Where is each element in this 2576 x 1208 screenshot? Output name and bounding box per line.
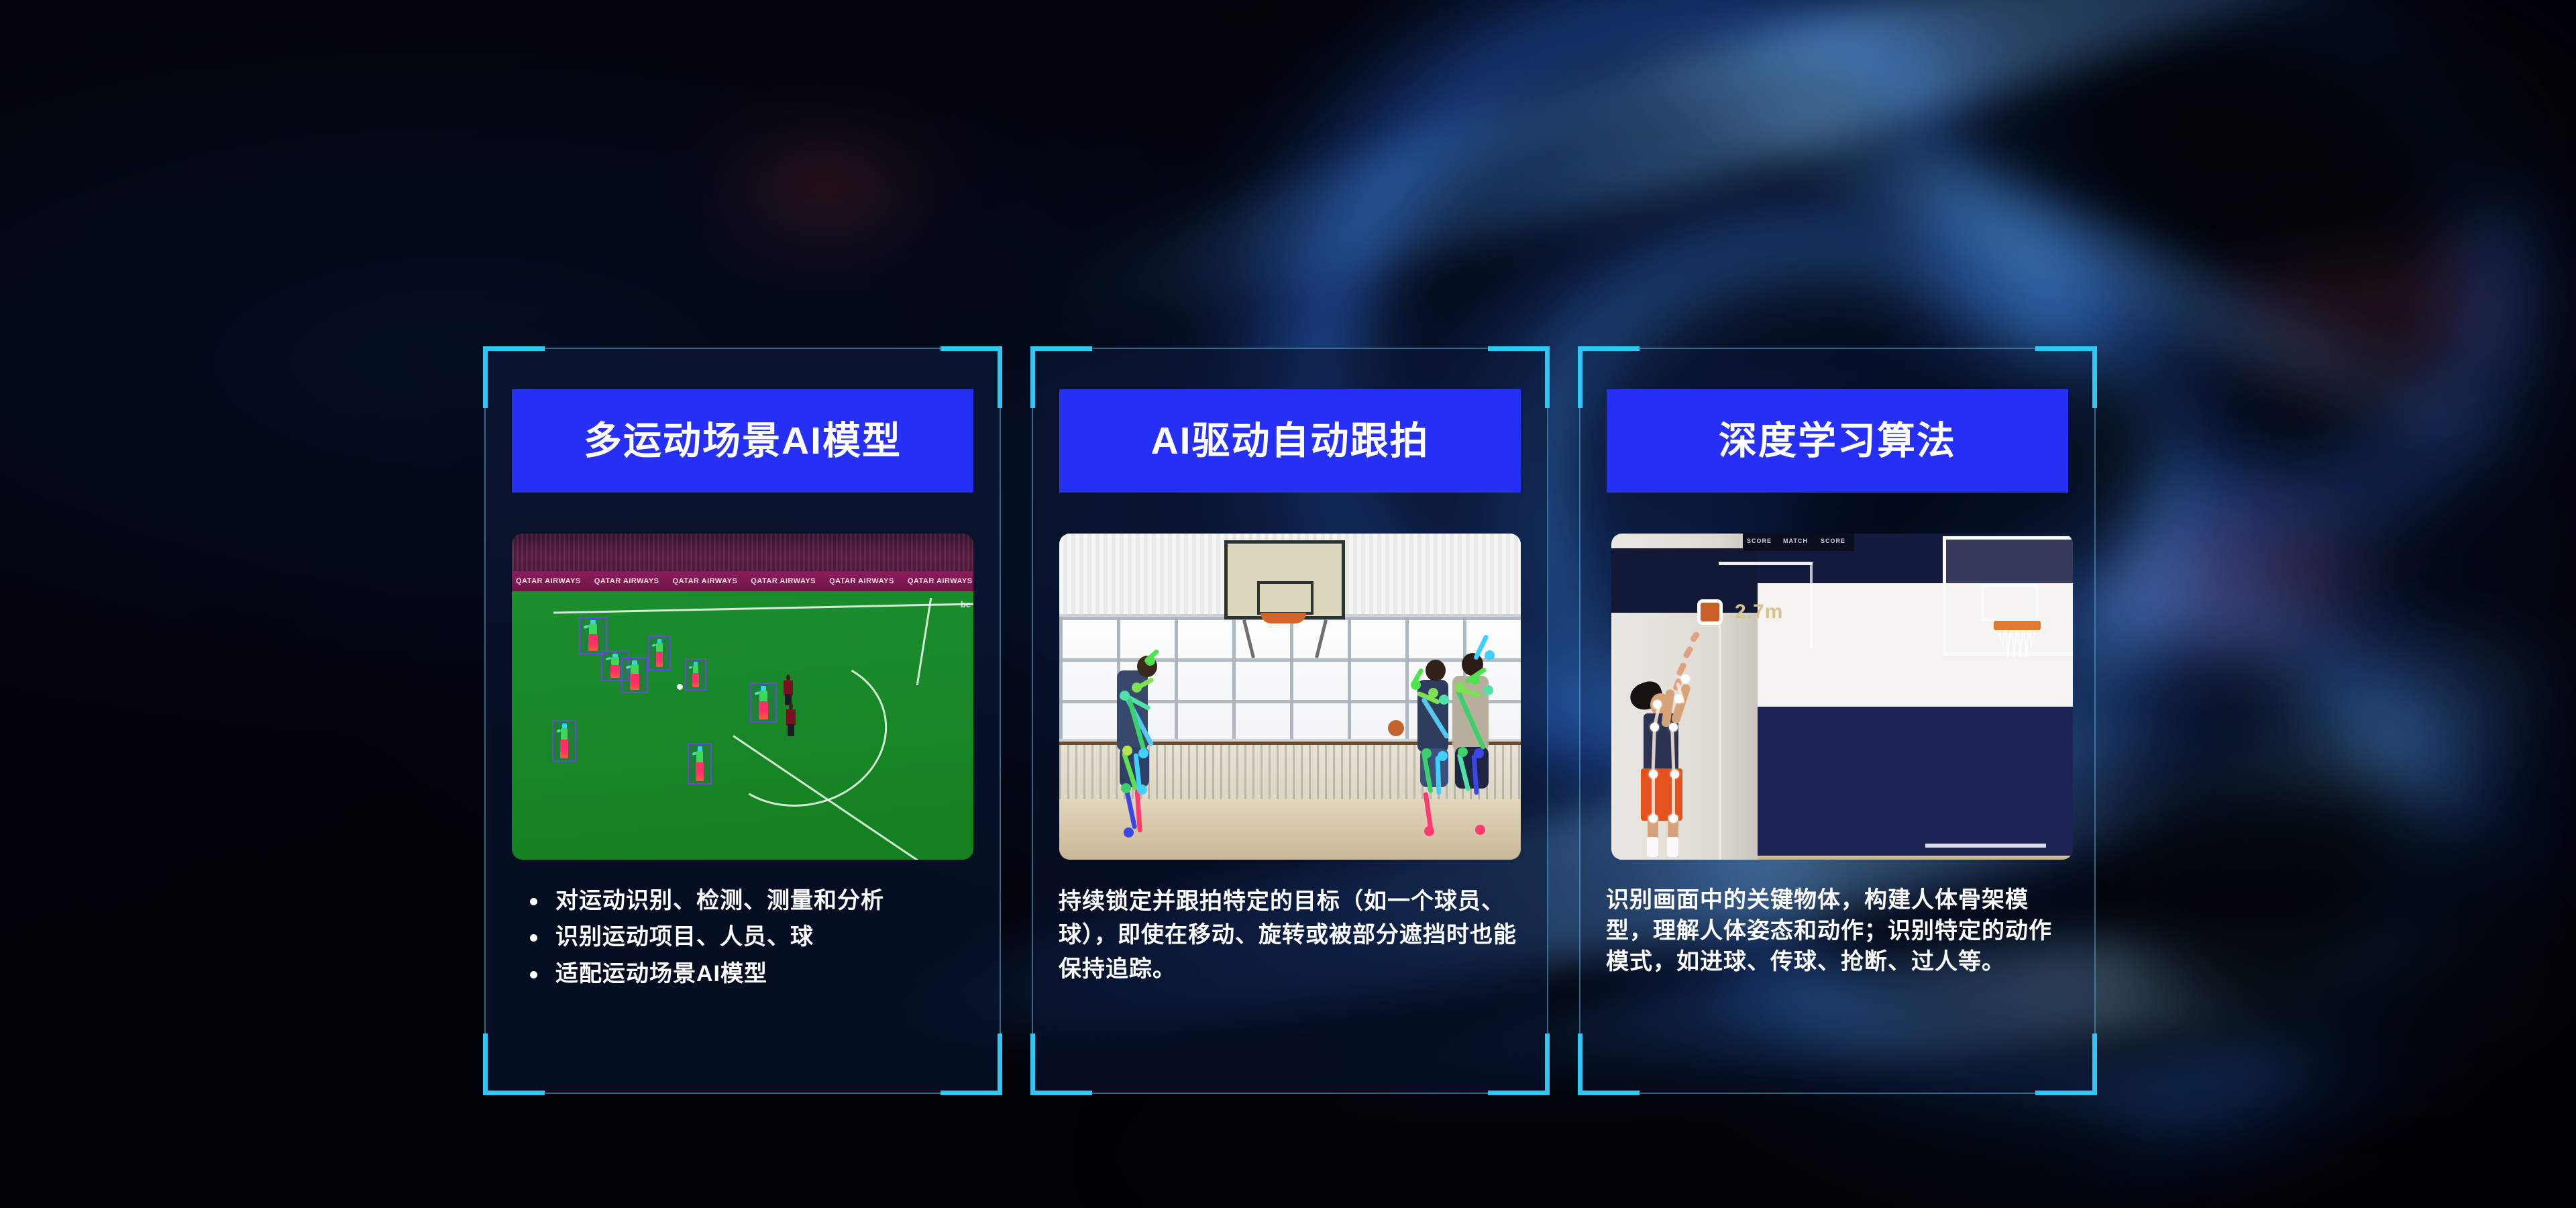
pose-figure xyxy=(555,723,573,758)
opponent-player xyxy=(780,674,796,705)
feature-bullet-list: 对运动识别、检测、测量和分析 识别运动项目、人员、球 适配运动场景AI模型 xyxy=(508,885,982,990)
keypoint xyxy=(1669,723,1678,732)
sponsor-text: QATAR AIRWAYS xyxy=(516,577,581,585)
pose-skeleton-left xyxy=(1109,652,1183,853)
keypoint xyxy=(1681,674,1690,683)
feature-card-deep-learning-algorithm[interactable]: 深度学习算法 SCORE MATCH SCORE 2.7m xyxy=(1579,348,2096,1094)
card-title-banner: 深度学习算法 xyxy=(1607,389,2068,493)
feature-description: 持续锁定并跟拍特定的目标（如一个球员、球），即使在移动、旋转或被部分遮挡时也能保… xyxy=(1056,885,1529,986)
pose-figure xyxy=(582,620,604,651)
keypoint xyxy=(1649,814,1658,823)
sponsor-text: QATAR AIRWAYS xyxy=(751,577,816,585)
pose-figure xyxy=(651,639,667,667)
opponent-player xyxy=(783,703,799,736)
detection-box xyxy=(579,617,607,654)
list-item: 识别运动项目、人员、球 xyxy=(526,921,982,953)
keypoint xyxy=(1670,770,1679,778)
soccer-ball xyxy=(677,684,683,690)
card-body: 持续锁定并跟拍特定的目标（如一个球员、球），即使在移动、旋转或被部分遮挡时也能保… xyxy=(1056,885,1529,986)
keypoint xyxy=(1649,770,1658,778)
sponsor-text: QATAR AIRWAYS xyxy=(594,577,659,585)
pose-figure xyxy=(625,660,645,690)
basketball-shot-measurement-thumbnail[interactable]: SCORE MATCH SCORE 2.7m xyxy=(1611,534,2073,860)
list-item: 适配运动场景AI模型 xyxy=(526,958,982,990)
detection-box xyxy=(688,743,712,785)
player-sock xyxy=(1647,837,1658,857)
keypoint xyxy=(1653,700,1662,709)
measurement-label: 2.7m xyxy=(1735,601,1783,623)
sponsor-text: QATAR AIRWAYS xyxy=(673,577,738,585)
detection-box xyxy=(648,636,671,670)
gym-basketball-pose-thumbnail[interactable] xyxy=(1059,534,1521,860)
scoreboard-label: SCORE xyxy=(1747,538,1772,544)
pose-figure xyxy=(691,746,708,781)
soccer-pitch-detection-thumbnail[interactable]: QATAR AIRWAYS QATAR AIRWAYS QATAR AIRWAY… xyxy=(512,534,973,860)
pose-figure xyxy=(753,686,773,719)
sponsor-banner: QATAR AIRWAYS QATAR AIRWAYS QATAR AIRWAY… xyxy=(512,571,973,591)
detection-box xyxy=(750,683,777,723)
card-title-text: 多运动场景AI模型 xyxy=(584,422,902,460)
basketball-backboard xyxy=(1224,540,1345,619)
basketball-rim xyxy=(1994,621,2041,630)
card-body: 识别画面中的关键物体，构建人体骨架模型，理解人体姿态和动作；识别特定的动作模式，… xyxy=(1603,885,2077,978)
card-title-text: AI驱动自动跟拍 xyxy=(1151,422,1430,460)
feature-card-row: 多运动场景AI模型 QATAR AIRWAYS QATAR AIRWAYS QA… xyxy=(0,0,2576,1208)
card-title-text: 深度学习算法 xyxy=(1719,422,1956,460)
basketball-hoop xyxy=(1260,613,1306,623)
detection-box xyxy=(621,657,648,693)
list-item: 对运动识别、检测、测量和分析 xyxy=(526,885,982,917)
feature-card-multi-sport-ai-model[interactable]: 多运动场景AI模型 QATAR AIRWAYS QATAR AIRWAYS QA… xyxy=(484,348,1001,1094)
ball-tracking-box xyxy=(1697,599,1723,625)
feature-card-ai-auto-tracking[interactable]: AI驱动自动跟拍 xyxy=(1032,348,1548,1094)
pose-figure xyxy=(688,662,703,687)
measurement-guide-vertical xyxy=(1810,562,1813,649)
pose-skeleton-right-2 xyxy=(1439,646,1519,854)
keypoint xyxy=(1669,814,1678,823)
keypoint xyxy=(1650,723,1659,732)
card-title-banner: AI驱动自动跟拍 xyxy=(1059,389,1521,493)
scoreboard-label: SCORE xyxy=(1821,538,1845,544)
card-title-banner: 多运动场景AI模型 xyxy=(512,389,973,493)
basketball xyxy=(1388,720,1404,736)
scoreboard: SCORE MATCH SCORE xyxy=(1743,534,1854,551)
detection-box xyxy=(685,658,706,691)
card-body: 对运动识别、检测、测量和分析 识别运动项目、人员、球 适配运动场景AI模型 xyxy=(508,885,982,994)
measurement-guide-horizontal xyxy=(1719,562,1813,565)
sponsor-text: QATAR AIRWAYS xyxy=(908,577,973,585)
sponsor-text: QATAR AIRWAYS xyxy=(829,577,894,585)
scoreboard-label: MATCH xyxy=(1783,538,1808,544)
feature-description: 识别画面中的关键物体，构建人体骨架模型，理解人体姿态和动作；识别特定的动作模式，… xyxy=(1603,885,2077,978)
player-sock xyxy=(1667,837,1678,857)
court-line xyxy=(1925,844,2046,848)
keypoint xyxy=(1674,695,1683,703)
measurement-drop-line xyxy=(1719,607,1721,860)
detection-box xyxy=(552,720,576,762)
navy-wall-padding xyxy=(1758,707,2073,856)
